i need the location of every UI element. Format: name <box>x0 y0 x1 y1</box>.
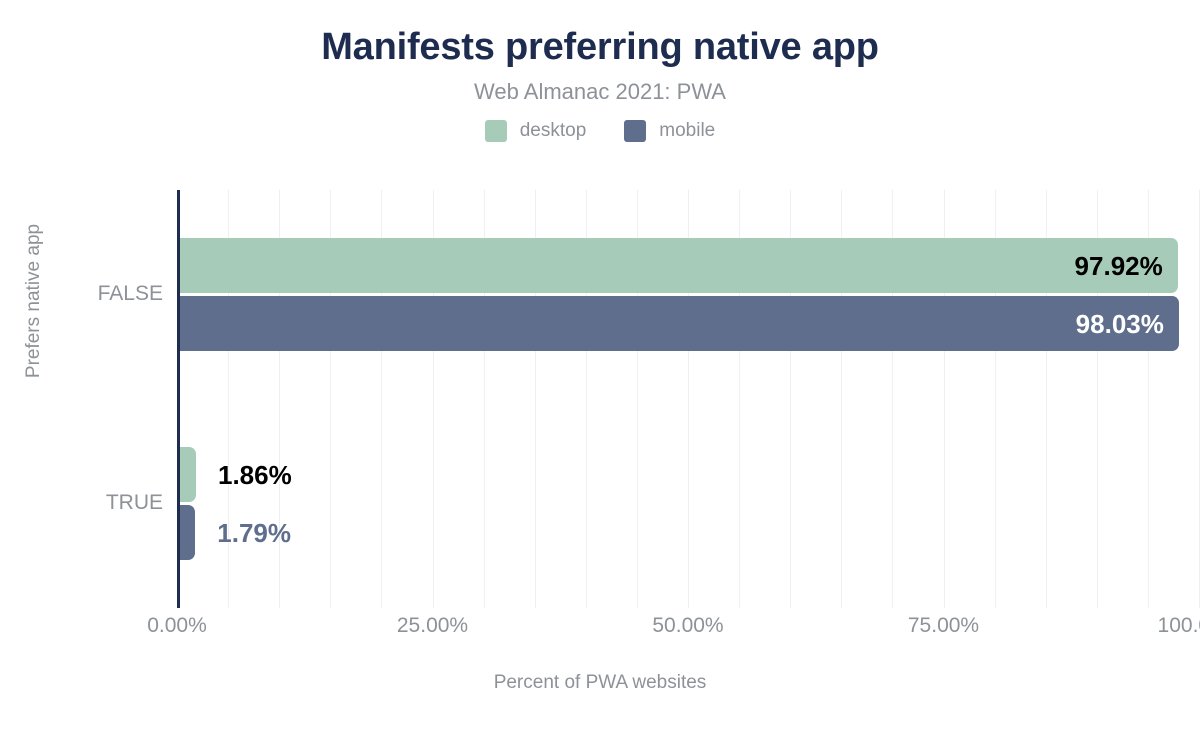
chart-plot: 97.92%98.03%1.86%1.79% FALSETRUE Prefers… <box>0 0 1200 742</box>
bar-value-label: 98.03% <box>1034 311 1164 337</box>
x-tick-label: 100.00% <box>1158 614 1200 638</box>
bar-value-label: 1.86% <box>218 462 292 488</box>
bar-false-desktop[interactable] <box>177 238 1178 293</box>
y-tick-false: FALSE <box>98 282 163 306</box>
x-axis-title: Percent of PWA websites <box>0 672 1200 694</box>
y-axis-line <box>177 190 180 608</box>
bar-false-mobile[interactable] <box>177 296 1179 351</box>
x-axis-tick-labels: 0.00%25.00%50.00%75.00%100.00% <box>177 614 1199 648</box>
x-tick-label: 50.00% <box>652 614 723 638</box>
x-tick-label: 0.00% <box>147 614 207 638</box>
plot-area: 97.92%98.03%1.86%1.79% <box>177 190 1199 608</box>
bar-value-label: 1.79% <box>217 520 291 546</box>
x-tick-label: 75.00% <box>908 614 979 638</box>
bar-value-label: 97.92% <box>1033 253 1163 279</box>
y-tick-true: TRUE <box>106 491 163 515</box>
y-axis-title: Prefers native app <box>23 191 45 411</box>
x-tick-label: 25.00% <box>397 614 468 638</box>
